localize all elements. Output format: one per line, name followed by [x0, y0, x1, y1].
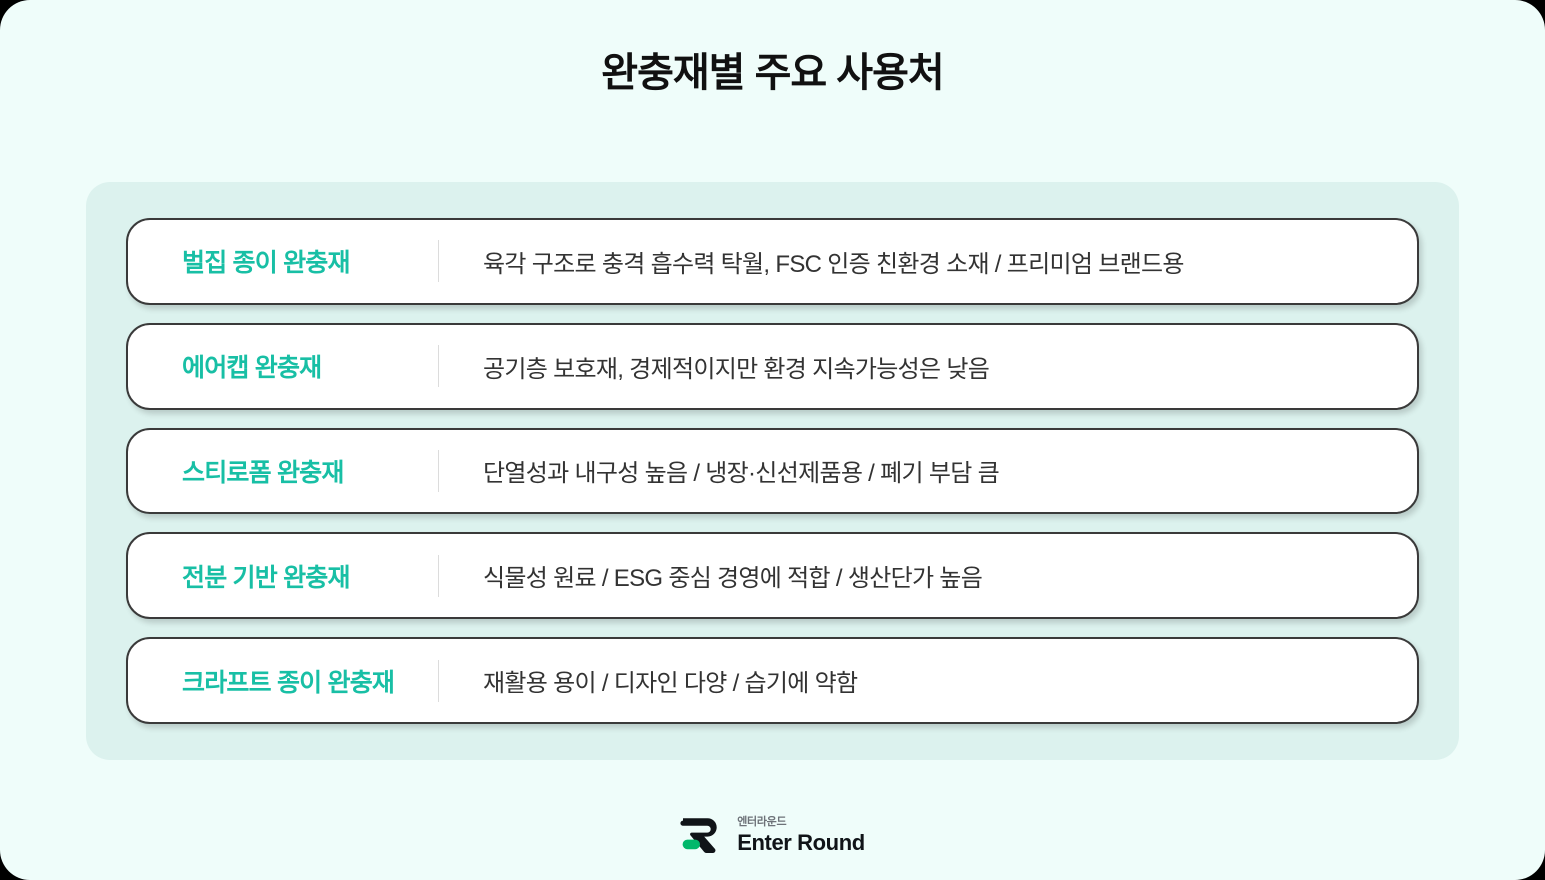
table-row: 벌집 종이 완충재 육각 구조로 충격 흡수력 탁월, FSC 인증 친환경 소… — [126, 218, 1419, 305]
page-title: 완충재별 주요 사용처 — [0, 48, 1545, 98]
row-label: 전분 기반 완충재 — [128, 558, 438, 594]
footer-branding: 엔터라운드 Enter Round — [0, 814, 1545, 856]
row-description: 단열성과 내구성 높음 / 냉장·신선제품용 / 폐기 부담 큼 — [439, 453, 1417, 488]
row-description: 식물성 원료 / ESG 중심 경영에 적합 / 생산단가 높음 — [439, 558, 1417, 593]
infographic-page: 완충재별 주요 사용처 벌집 종이 완충재 육각 구조로 충격 흡수력 탁월, … — [0, 0, 1545, 880]
row-label: 스티로폼 완충재 — [128, 453, 438, 489]
row-label: 크라프트 종이 완충재 — [128, 663, 438, 699]
brand-name-kr: 엔터라운드 — [737, 817, 865, 828]
table-row: 전분 기반 완충재 식물성 원료 / ESG 중심 경영에 적합 / 생산단가 … — [126, 532, 1419, 619]
row-label: 벌집 종이 완충재 — [128, 243, 438, 279]
table-row: 스티로폼 완충재 단열성과 내구성 높음 / 냉장·신선제품용 / 폐기 부담 … — [126, 428, 1419, 515]
row-description: 공기층 보호재, 경제적이지만 환경 지속가능성은 낮음 — [439, 349, 1417, 384]
table-row: 크라프트 종이 완충재 재활용 용이 / 디자인 다양 / 습기에 약함 — [126, 637, 1419, 724]
row-label: 에어캡 완충재 — [128, 348, 438, 384]
row-description: 육각 구조로 충격 흡수력 탁월, FSC 인증 친환경 소재 / 프리미엄 브… — [439, 244, 1417, 279]
enter-round-r-mark-icon — [680, 814, 726, 856]
brand-name-en: Enter Round — [737, 832, 865, 854]
table-row: 에어캡 완충재 공기층 보호재, 경제적이지만 환경 지속가능성은 낮음 — [126, 323, 1419, 410]
brand-text: 엔터라운드 Enter Round — [737, 817, 865, 854]
content-panel: 벌집 종이 완충재 육각 구조로 충격 흡수력 탁월, FSC 인증 친환경 소… — [86, 182, 1459, 760]
row-description: 재활용 용이 / 디자인 다양 / 습기에 약함 — [439, 663, 1417, 698]
